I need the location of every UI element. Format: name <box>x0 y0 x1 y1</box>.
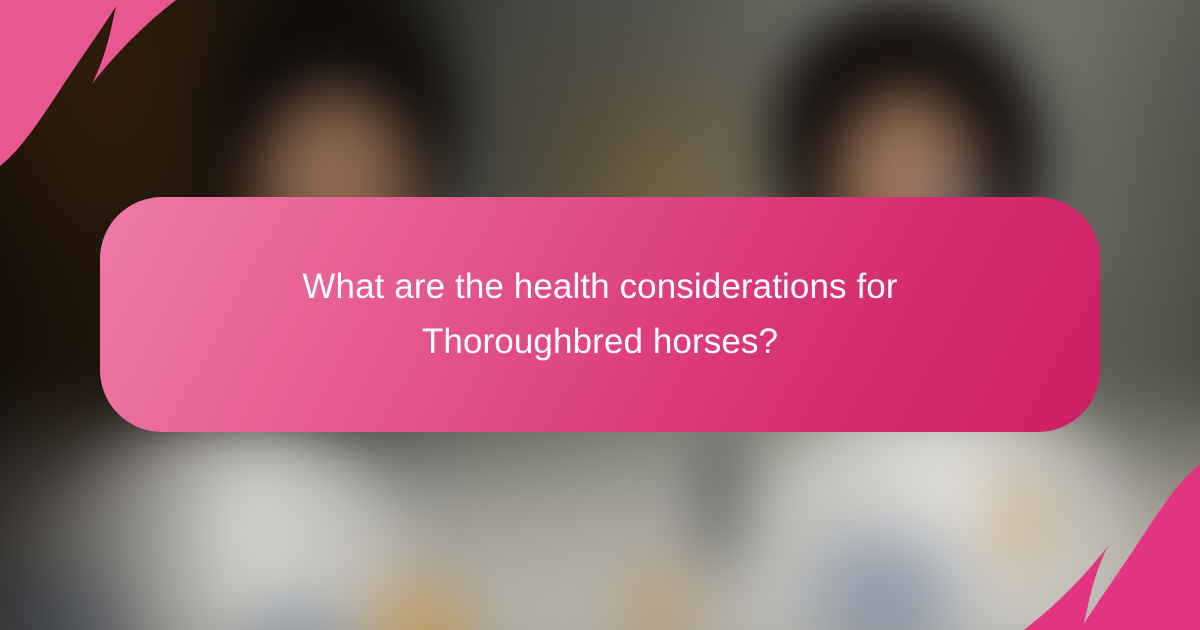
question-text: What are the health considerations for T… <box>250 260 950 369</box>
background-amber-glass-3 <box>971 461 1071 591</box>
background-bottom-vignette <box>0 607 1200 630</box>
share-card-canvas: What are the health considerations for T… <box>0 0 1200 630</box>
question-card: What are the health considerations for T… <box>100 197 1100 432</box>
